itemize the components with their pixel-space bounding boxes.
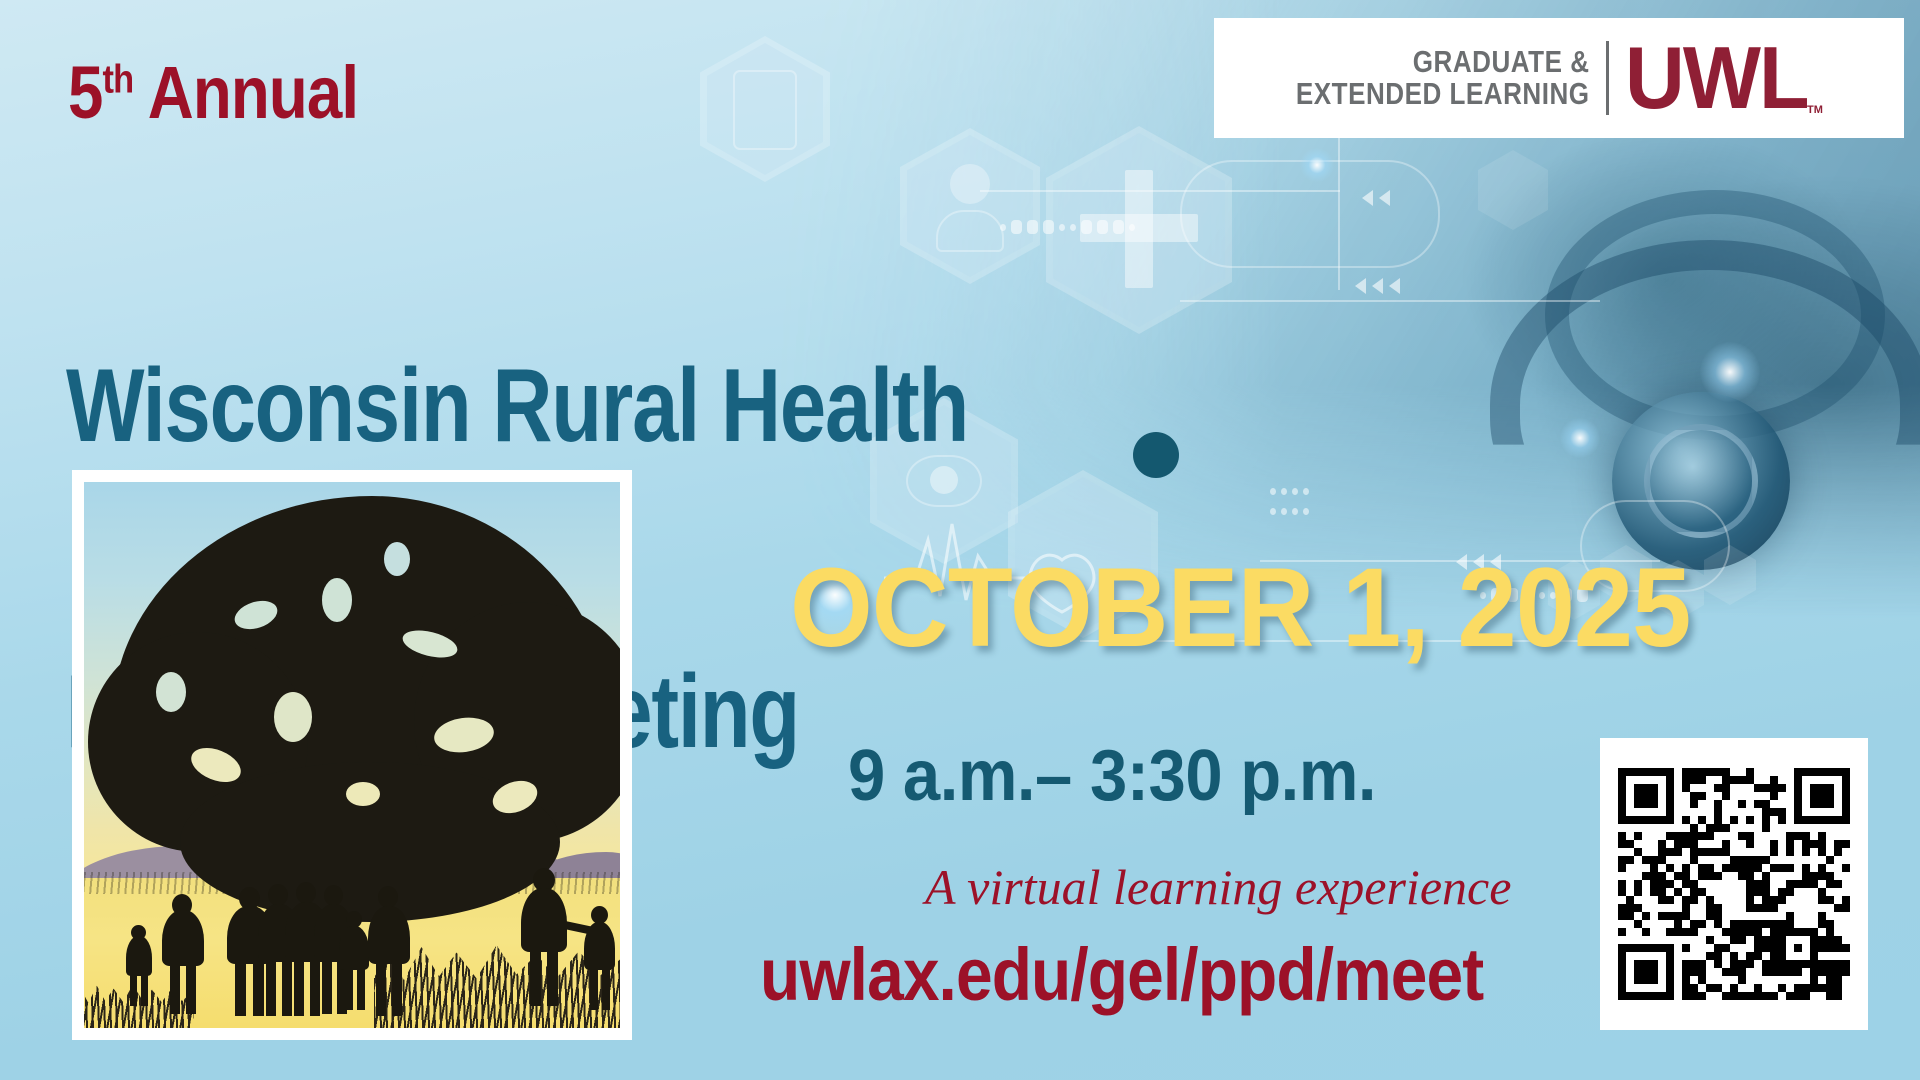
tree-photo: [84, 482, 620, 1028]
logo-wordmark-wrap: UWL TM: [1625, 38, 1819, 117]
arrow-left-icon-1: [1355, 278, 1366, 294]
lens-glow-1: [1300, 148, 1334, 182]
hexagon-small-a: [1478, 150, 1548, 230]
logo-unit-line2: EXTENDED LEARNING: [1296, 78, 1590, 110]
data-dots-row-1: [1000, 220, 1135, 234]
event-edition-kicker: 5th Annual: [68, 56, 358, 130]
title-line-1: Wisconsin Rural Health: [66, 356, 968, 458]
logo-divider: [1606, 41, 1609, 115]
logo-unit-name: GRADUATE & EXTENDED LEARNING: [1296, 46, 1590, 109]
event-tagline: A virtual learning experience: [925, 862, 1511, 912]
trademark-symbol: TM: [1807, 104, 1823, 116]
event-url[interactable]: uwlax.edu/gel/ppd/meet: [760, 938, 1483, 1012]
foliage-gap-7: [346, 782, 380, 806]
arrow-left-icon-2: [1372, 278, 1383, 294]
data-dots-row-3: [1270, 508, 1309, 515]
uwl-gel-logo[interactable]: GRADUATE & EXTENDED LEARNING UWL TM: [1214, 18, 1904, 138]
event-poster: GRADUATE & EXTENDED LEARNING UWL TM 5th …: [0, 0, 1920, 1080]
data-dots-row-2: [1270, 488, 1309, 495]
event-date: OCTOBER 1, 2025: [790, 552, 1826, 664]
lens-glow-3: [1700, 342, 1760, 402]
foliage-gap-2: [322, 578, 352, 622]
logo-unit-line1: GRADUATE &: [1296, 46, 1590, 78]
tree-photo-frame: [72, 470, 632, 1040]
clipboard-icon: [733, 70, 797, 150]
kicker-ordinal: th: [103, 57, 134, 101]
event-time: 9 a.m.– 3:30 p.m.: [848, 740, 1376, 812]
kicker-number: 5: [68, 51, 103, 134]
foliage-gap-4: [274, 692, 312, 742]
kicker-word: Annual: [133, 51, 358, 134]
circuit-line-2: [1180, 300, 1600, 302]
qr-code-canvas[interactable]: [1618, 768, 1850, 1000]
foliage-gap-10: [384, 542, 410, 576]
arrow-left-icon-3: [1389, 278, 1400, 294]
qr-code[interactable]: [1600, 738, 1868, 1030]
arrow-left-icon-4: [1362, 190, 1373, 206]
arrow-left-icon-5: [1379, 190, 1390, 206]
foliage-gap-9: [156, 672, 186, 712]
navy-dot-accent: [1133, 432, 1179, 478]
uwl-wordmark: UWL: [1625, 38, 1808, 117]
lens-glow-4: [1560, 418, 1600, 458]
